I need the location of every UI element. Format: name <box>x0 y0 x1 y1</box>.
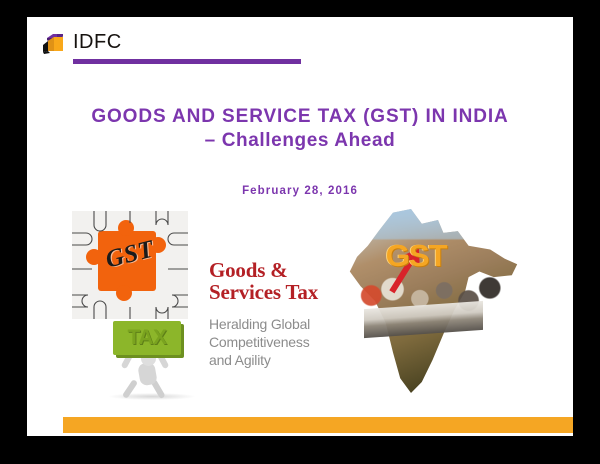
slide-title-line-1: GOODS AND SERVICE TAX (GST) IN INDIA <box>33 105 567 129</box>
slide-title-line-2: – Challenges Ahead <box>33 129 567 153</box>
india-map-gst-label: GST <box>386 238 447 274</box>
gst-text-lockup: Goods & Services Tax Heralding Global Co… <box>209 259 359 370</box>
artwork-region: GST TAX Goods & Services Tax H <box>27 203 573 399</box>
header-divider-rule <box>73 59 301 64</box>
gst-heading-line-2: Services Tax <box>209 281 359 303</box>
slide-outer-frame: IDFC GOODS AND SERVICE TAX (GST) IN INDI… <box>0 0 600 464</box>
brand-lockup: IDFC <box>41 29 122 55</box>
slide-header: IDFC <box>27 17 573 72</box>
idfc-logo-icon <box>41 29 65 55</box>
idfc-wordmark: IDFC <box>73 32 122 52</box>
gst-tagline-line-3: and Agility <box>209 351 359 369</box>
india-map-collage-image: GST <box>339 209 519 393</box>
gst-tagline-line-2: Competitiveness <box>209 333 359 351</box>
tax-block-label: TAX <box>113 321 181 355</box>
gst-heading-line-1: Goods & <box>209 259 359 281</box>
tax-block: TAX <box>113 321 181 355</box>
page-title: GOODS AND SERVICE TAX (GST) IN INDIA – C… <box>27 105 573 154</box>
tax-figure-image: TAX <box>89 321 209 399</box>
presentation-slide: IDFC GOODS AND SERVICE TAX (GST) IN INDI… <box>27 17 573 436</box>
footer-accent-bar <box>63 417 573 433</box>
gst-puzzle-image: GST <box>72 211 188 319</box>
gst-tagline: Heralding Global Competitiveness and Agi… <box>209 315 359 370</box>
gst-tagline-line-1: Heralding Global <box>209 315 359 333</box>
slide-date: February 28, 2016 <box>27 185 573 197</box>
